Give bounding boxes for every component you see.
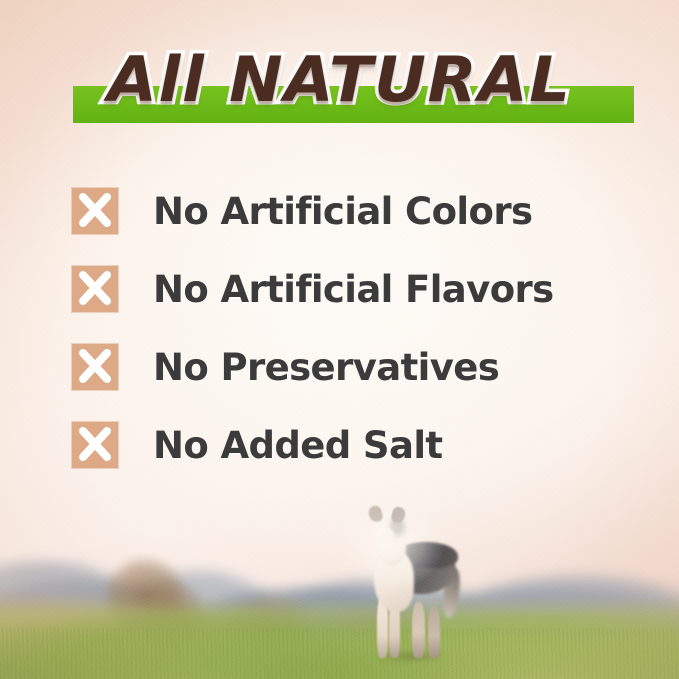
list-item: No Artificial Flavors (72, 250, 612, 328)
benefits-list: No Artificial Colors No Artificial Flavo… (72, 172, 612, 484)
list-item-label: No Artificial Flavors (153, 271, 554, 308)
page-title: All NATURAL (0, 49, 679, 111)
x-mark-icon (72, 422, 118, 468)
x-mark-icon (72, 188, 118, 234)
list-item-label: No Added Salt (153, 427, 443, 464)
list-item: No Added Salt (72, 406, 612, 484)
list-item-label: No Artificial Colors (153, 193, 532, 230)
x-mark-icon (72, 266, 118, 312)
x-mark-icon (72, 344, 118, 390)
list-item: No Artificial Colors (72, 172, 612, 250)
all-natural-product-poster: All NATURAL No Artificial Colors No Arti… (0, 0, 679, 679)
list-item: No Preservatives (72, 328, 612, 406)
list-item-label: No Preservatives (153, 349, 499, 386)
